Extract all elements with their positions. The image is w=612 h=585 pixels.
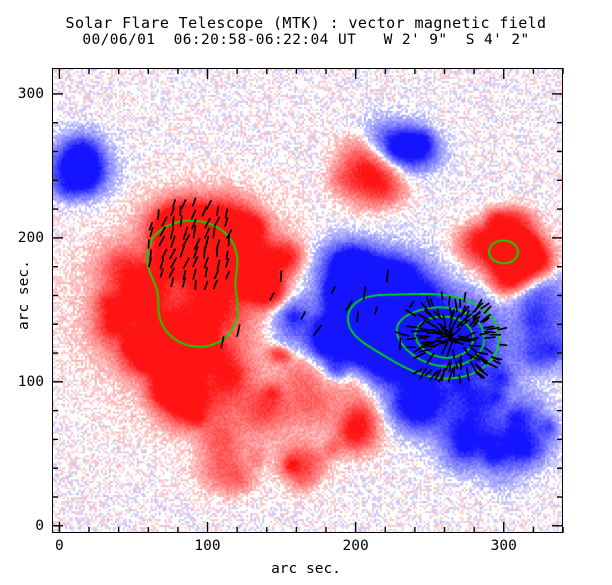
field-vector [441,292,442,300]
field-vector [159,236,164,246]
field-vector [160,227,165,237]
field-vector [447,343,452,357]
field-vector [409,301,414,308]
field-vector [148,239,149,248]
field-vector [419,338,427,339]
field-vector [193,198,196,207]
field-vector [169,268,174,278]
field-vector [180,216,182,227]
field-vector [206,200,211,209]
y-tick-label: 200 [0,230,44,246]
field-vector [454,366,455,377]
field-vector [173,216,174,226]
field-vector [400,338,401,351]
y-axis-label: arc sec. [16,260,32,330]
field-vector [193,269,196,280]
field-vector [162,217,167,227]
field-vector [346,301,353,311]
field-vector [494,358,503,359]
field-vector [171,207,174,216]
field-vector [469,337,479,339]
field-vector [441,343,447,355]
field-vector [195,280,196,290]
field-vector [214,217,219,226]
field-vector [452,328,461,336]
field-vector [217,206,219,216]
page-title: Solar Flare Telescope (MTK) : vector mag… [0,14,612,32]
field-vector [205,218,210,228]
y-tick-label: 300 [0,86,44,102]
x-axis-label: arc sec. [0,561,612,577]
field-vector [171,227,174,239]
y-tick-label: 100 [0,374,44,390]
field-vector [181,200,186,209]
field-vector [204,247,205,259]
field-vector [193,225,195,238]
field-vector [486,362,498,368]
field-vector [314,325,322,335]
field-vector [419,320,426,327]
field-vector [466,332,475,337]
field-vector [171,257,177,268]
field-vector [406,310,416,317]
field-vector [455,299,457,312]
field-vector [436,336,448,339]
field-vector [160,258,163,269]
field-vector [470,361,475,369]
field-vector [205,267,207,277]
magnetogram-plot [52,68,563,533]
field-vector [450,307,452,317]
observation-info: 00/06/01 06:20:58-06:22:04 UT W 2' 9" S … [0,32,612,48]
field-vector [416,335,430,336]
field-vector [479,333,488,335]
field-vector [419,349,432,352]
x-tick-label: 100 [194,538,220,554]
field-vector [226,271,230,279]
field-vector [202,207,206,217]
field-vector [425,370,432,376]
field-vector [270,293,274,301]
field-vector [406,326,417,327]
field-vector [225,209,227,219]
field-vector [357,312,358,323]
x-tick-label: 300 [491,538,517,554]
field-vector [483,326,494,328]
field-vector [221,336,224,348]
field-vector [423,343,435,345]
field-vector [464,347,472,359]
field-vector [431,341,442,342]
field-vector [475,354,487,362]
field-vector [237,324,240,336]
field-vector [456,361,457,369]
field-vector [427,297,431,308]
field-vector [170,249,176,259]
field-vector [427,353,434,364]
field-vector [443,314,445,328]
field-vector [160,269,163,278]
field-vector [150,250,151,260]
vector-field-overlay [53,69,562,532]
field-vector [214,270,218,279]
field-vector [301,311,305,319]
field-vector [395,332,409,336]
y-tick-label: 0 [0,518,44,534]
field-vector [493,360,501,364]
field-vector [375,306,377,314]
field-vector [226,251,228,260]
field-vector [484,348,492,354]
field-vector [281,270,282,282]
field-vector [449,296,450,305]
field-vector [205,236,208,249]
field-vector [204,281,207,290]
field-vector [173,199,175,207]
field-vector [158,209,159,219]
field-vector [183,258,189,269]
field-vector [453,349,455,358]
field-vector [217,260,219,270]
field-vector [213,280,217,289]
field-vector [191,210,195,220]
field-vector [180,245,184,257]
field-vector [171,277,173,287]
field-vector [430,299,433,306]
field-vector [484,331,496,332]
field-vector [363,287,365,300]
field-vector [204,257,208,268]
field-vector [387,270,389,283]
field-vector [413,369,423,375]
field-vector [414,353,426,359]
field-vector [478,352,488,354]
field-vector [421,302,428,310]
field-vector [470,347,477,353]
field-vector [407,338,416,339]
field-vector [225,218,228,227]
field-vector [484,306,491,313]
field-vector [467,367,469,381]
field-vector [464,292,465,302]
field-vector [162,249,167,259]
field-vector [213,227,215,237]
field-vector [469,345,482,346]
x-tick-label: 0 [55,538,64,554]
x-tick-label: 200 [343,538,369,554]
field-vector [331,286,335,293]
field-vector [459,374,460,383]
field-vector [499,345,507,346]
field-vector [484,337,496,338]
